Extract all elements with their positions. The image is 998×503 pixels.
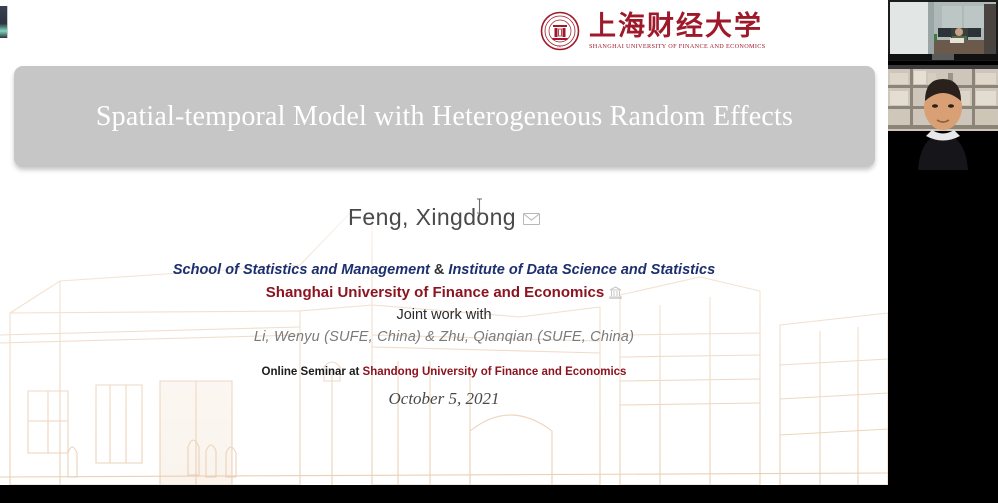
seal-icon: 1917 (540, 11, 580, 51)
seminar-line: Online Seminar at Shandong University of… (0, 366, 888, 378)
slide-title-box: Spatial-temporal Model with Heterogeneou… (14, 66, 875, 167)
affiliation-school: School of Statistics and Management (173, 262, 430, 278)
slide-date: October 5, 2021 (0, 389, 888, 409)
envelope-icon[interactable] (523, 213, 540, 225)
affiliation-line-1: School of Statistics and Management & In… (0, 261, 888, 280)
seminar-host: Shandong University of Finance and Econo… (363, 366, 627, 378)
page-title: Spatial-temporal Model with Heterogeneou… (62, 97, 827, 137)
video-tile-speaker[interactable] (888, 60, 998, 171)
logo-text: 上海财经大学 SHANGHAI UNIVERSITY OF FINANCE AN… (589, 12, 766, 49)
presenter-name: Xingdong Feng（SUFE） (93, 485, 227, 486)
coauthors: Li, Wenyu (SUFE, China) & Zhu, Qianqian … (0, 328, 888, 347)
screen-root: 1917 上海财经大学 SHANGHAI UNIVERSITY OF FINAN… (0, 0, 998, 503)
affiliation-line-2: Shanghai University of Finance and Econo… (0, 283, 888, 303)
university-logo: 1917 上海财经大学 SHANGHAI UNIVERSITY OF FINAN… (540, 8, 770, 54)
video-sidebar (888, 0, 998, 503)
affiliation-block: School of Statistics and Management & In… (0, 261, 888, 347)
seminar-prefix: Online Seminar at (262, 366, 360, 378)
svg-text:1917: 1917 (557, 45, 564, 49)
video-tile-room[interactable] (888, 0, 998, 60)
text-ibeam-cursor (476, 198, 483, 214)
presentation-slide[interactable]: 1917 上海财经大学 SHANGHAI UNIVERSITY OF FINAN… (0, 0, 888, 485)
logo-chinese-name: 上海财经大学 (589, 12, 766, 40)
author-name: Feng, Xingdong (348, 204, 516, 231)
logo-english-name: SHANGHAI UNIVERSITY OF FINANCE AND ECONO… (589, 43, 766, 50)
affiliation-institute: Institute of Data Science and Statistics (448, 262, 715, 278)
offscreen-window-edge[interactable] (0, 6, 8, 38)
video-sidebar-empty (888, 170, 998, 503)
joint-work-label: Joint work with (0, 306, 888, 325)
affiliation-ampersand: & (434, 262, 444, 278)
institution-icon (609, 286, 622, 299)
affiliation-university: Shanghai University of Finance and Econo… (266, 284, 604, 301)
author-row: Feng, Xingdong (0, 204, 888, 231)
